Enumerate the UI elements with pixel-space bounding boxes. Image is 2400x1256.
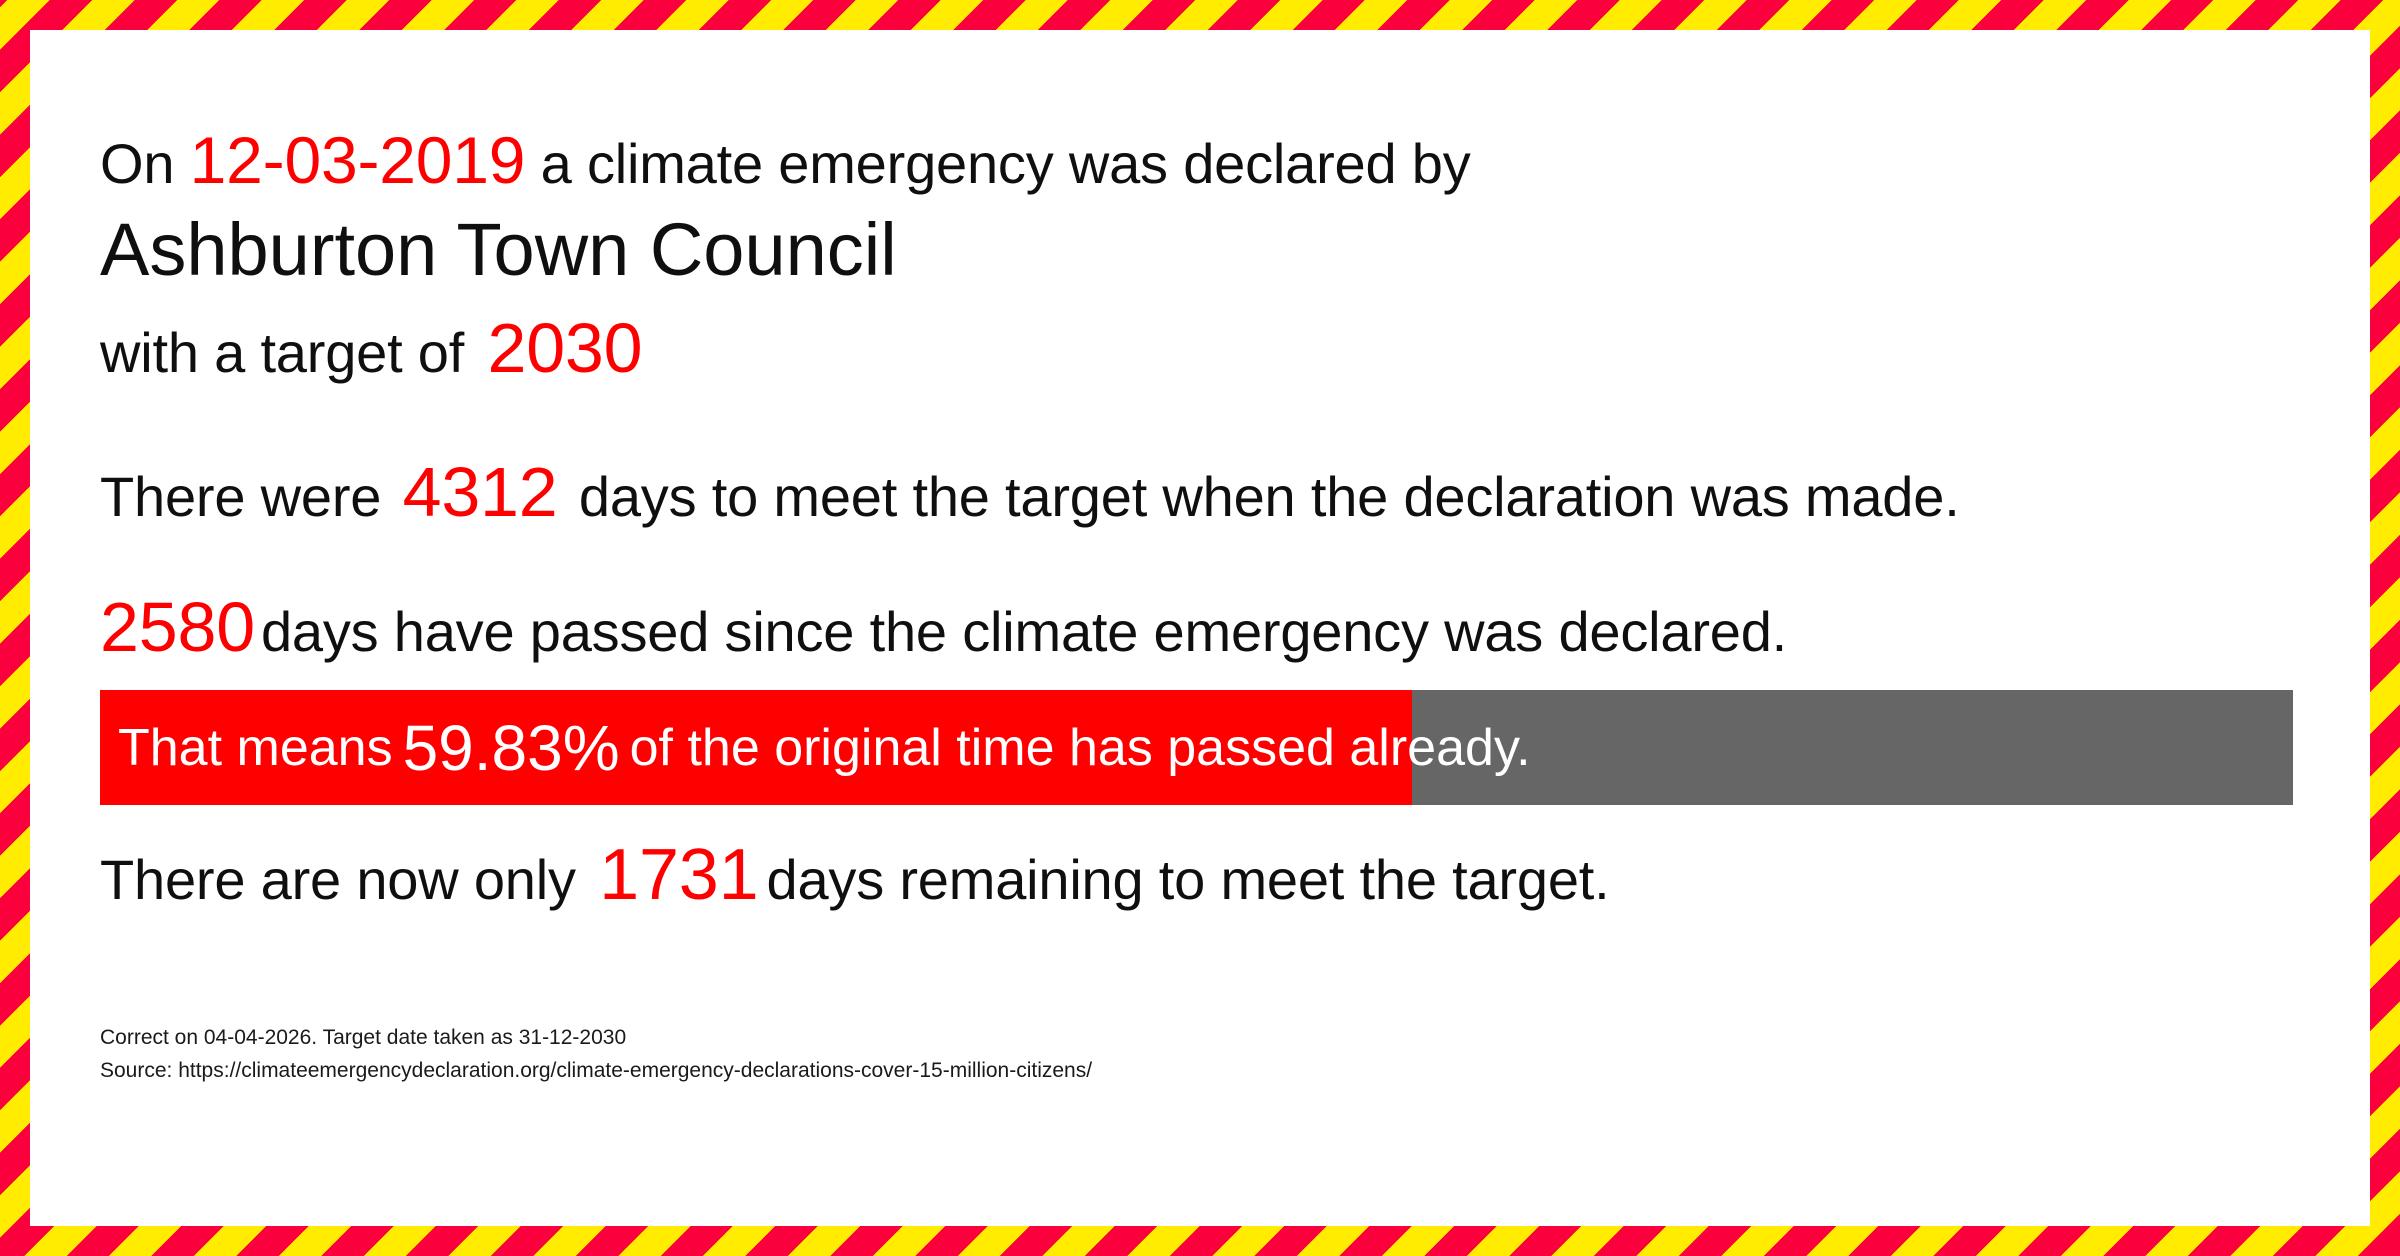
target-year: 2030 bbox=[479, 309, 642, 387]
progress-bar-label: That means 59.83% of the original time h… bbox=[100, 690, 2293, 805]
footnotes: Correct on 04-04-2026. Target date taken… bbox=[100, 1022, 2330, 1087]
declaration-prefix: On bbox=[100, 132, 190, 195]
available-prefix: There were bbox=[100, 465, 397, 528]
remaining-prefix: There are now only bbox=[100, 848, 591, 911]
poster-frame: On 12-03-2019 a climate emergency was de… bbox=[0, 0, 2400, 1256]
content-area: On 12-03-2019 a climate emergency was de… bbox=[100, 60, 2330, 1226]
declaration-suffix: a climate emergency was declared by bbox=[525, 132, 1470, 195]
target-line: with a target of 2030 bbox=[100, 307, 2330, 390]
available-days-line: There were 4312 days to meet the target … bbox=[100, 451, 2330, 534]
remaining-days-value: 1731 bbox=[591, 835, 766, 915]
progress-bar: That means 59.83% of the original time h… bbox=[100, 690, 2293, 805]
available-suffix: days to meet the target when the declara… bbox=[564, 465, 1960, 528]
remaining-days-line: There are now only 1731days remaining to… bbox=[100, 833, 2330, 918]
authority-name: Ashburton Town Council bbox=[100, 206, 2330, 295]
progress-percent: 59.83% bbox=[393, 711, 630, 785]
available-days-value: 4312 bbox=[397, 453, 564, 531]
progress-prefix: That means bbox=[118, 718, 393, 778]
correct-on-note: Correct on 04-04-2026. Target date taken… bbox=[100, 1022, 2330, 1055]
elapsed-days-value: 2580 bbox=[100, 588, 261, 666]
target-prefix: with a target of bbox=[100, 321, 479, 384]
source-note: Source: https://climateemergencydeclarat… bbox=[100, 1055, 2330, 1088]
elapsed-days-line: 2580days have passed since the climate e… bbox=[100, 586, 2330, 669]
declaration-date: 12-03-2019 bbox=[190, 123, 526, 197]
progress-suffix: of the original time has passed already. bbox=[630, 718, 1531, 778]
elapsed-suffix: days have passed since the climate emerg… bbox=[261, 600, 1787, 663]
declaration-line: On 12-03-2019 a climate emergency was de… bbox=[100, 122, 2330, 200]
remaining-suffix: days remaining to meet the target. bbox=[767, 848, 1610, 911]
white-card: On 12-03-2019 a climate emergency was de… bbox=[30, 30, 2370, 1226]
